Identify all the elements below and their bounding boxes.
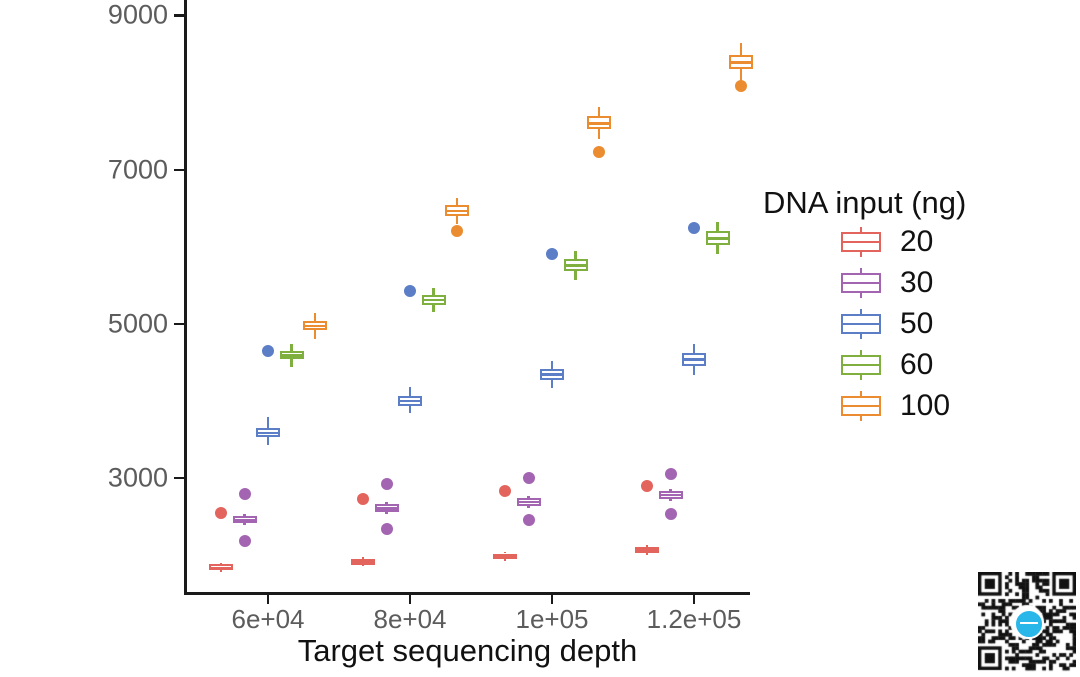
x-axis-title: Target sequencing depth [185,633,750,669]
whisker-upper [432,288,434,295]
y-axis-tick [174,169,185,171]
whisker-lower [716,245,718,254]
y-axis-tick-label: 5000 [108,309,168,340]
y-axis-tick [174,477,185,479]
outlier-point [357,493,369,505]
whisker-lower [456,216,458,224]
median-line [682,358,706,360]
whisker-lower [220,570,222,572]
median-line [635,549,659,551]
legend-item-label: 50 [900,309,933,339]
outlier-point [665,468,677,480]
median-line [303,325,327,327]
x-axis-tick [693,593,695,604]
outlier-point [523,472,535,484]
whisker-upper [693,344,695,353]
x-axis-tick-label: 1e+05 [515,604,588,635]
legend-item-60[interactable]: 60 [838,344,1080,385]
whisker-lower [432,305,434,312]
x-axis-tick [267,593,269,604]
median-line [375,507,399,509]
outlier-point [523,514,535,526]
whisker-upper [314,313,316,321]
legend-key-boxplot-icon [838,310,884,338]
outlier-point [499,485,511,497]
outlier-point [404,285,416,297]
median-line [493,555,517,557]
outlier-point [381,478,393,490]
median-line [233,519,257,521]
outlier-point [593,146,605,158]
y-axis-tick [174,14,185,16]
legend-item-label: 30 [900,268,933,298]
chart-figure: 3000500070009000 6e+048e+041e+051.2e+05 … [0,0,1080,677]
median-line [209,567,233,569]
legend-key-boxplot-icon [838,351,884,379]
median-line [445,210,469,212]
legend-item-label: 20 [900,227,933,257]
outlier-point [239,535,251,547]
whisker-upper [409,387,411,395]
whisker-lower [243,523,245,525]
median-line [729,61,753,63]
qr-center-logo-icon [1014,609,1044,639]
whisker-upper [267,417,269,428]
y-axis-tick [174,323,185,325]
legend-key-boxplot-icon [838,269,884,297]
outlier-point [546,248,558,260]
whisker-lower [385,512,387,514]
y-axis-tick-label: 3000 [108,463,168,494]
whisker-lower [669,499,671,501]
qr-code-watermark [978,572,1076,672]
whisker-upper [574,251,576,259]
legend-items: 20305060100 [760,221,1080,426]
x-axis-tick-label: 1.2e+05 [647,604,742,635]
x-axis-tick-label: 8e+04 [373,604,446,635]
median-line [422,299,446,301]
median-line [587,122,611,124]
whisker-lower [267,437,269,445]
legend-key-boxplot-icon [838,392,884,420]
outlier-point [215,507,227,519]
outlier-point [641,480,653,492]
whisker-lower [693,366,695,375]
whisker-upper [290,344,292,351]
legend-item-30[interactable]: 30 [838,262,1080,303]
median-line [706,237,730,239]
outlier-point [381,523,393,535]
whisker-lower [290,359,292,367]
whisker-lower [598,129,600,139]
median-line [351,561,375,563]
whisker-upper [456,198,458,205]
outlier-point [239,488,251,500]
median-line [564,264,588,266]
outlier-point [688,222,700,234]
whisker-upper [740,43,742,55]
legend-key-boxplot-icon [838,228,884,256]
median-line [398,400,422,402]
x-axis-tick-label: 6e+04 [231,604,304,635]
whisker-lower [504,559,506,561]
median-line [280,354,304,356]
legend-item-label: 60 [900,350,933,380]
x-axis-tick [409,593,411,604]
legend-item-50[interactable]: 50 [838,303,1080,344]
x-axis-tick [551,593,553,604]
median-line [659,494,683,496]
median-line [540,373,564,375]
outlier-point [665,508,677,520]
whisker-upper [551,361,553,369]
legend: DNA input (ng) 20305060100 [760,185,1080,426]
whisker-upper [598,107,600,116]
legend-item-label: 100 [900,391,950,421]
outlier-point [451,225,463,237]
whisker-lower [314,330,316,338]
whisker-lower [574,271,576,280]
whisker-upper [716,222,718,231]
outlier-point [262,345,274,357]
whisker-lower [362,565,364,567]
legend-item-20[interactable]: 20 [838,221,1080,262]
median-line [256,432,280,434]
legend-item-100[interactable]: 100 [838,385,1080,426]
whisker-lower [646,553,648,555]
whisker-lower [409,406,411,414]
y-axis-tick-label: 7000 [108,154,168,185]
legend-title: DNA input (ng) [763,185,1080,221]
outlier-point [735,80,747,92]
plot-panel [185,0,750,594]
median-line [517,501,541,503]
y-axis-tick-label: 9000 [108,0,168,31]
whisker-lower [527,506,529,508]
whisker-lower [551,380,553,388]
